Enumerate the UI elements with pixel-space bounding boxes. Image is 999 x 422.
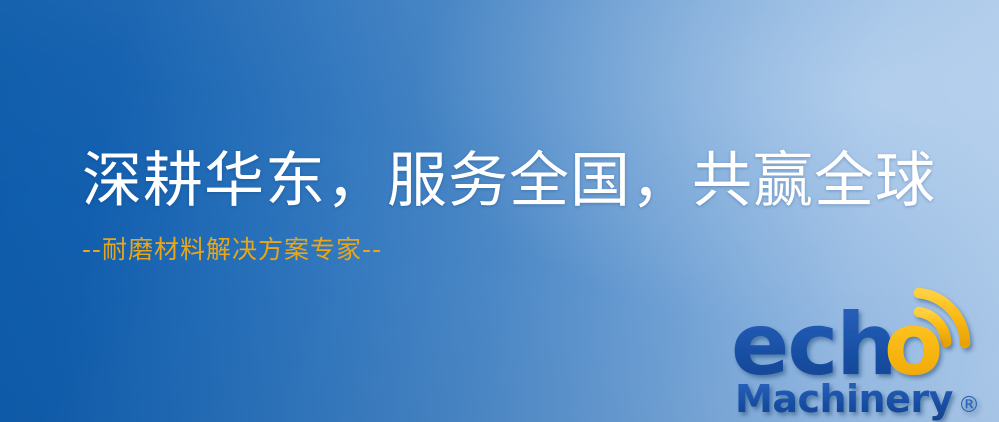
banner-subtitle: --耐磨材料解决方案专家-- [82, 236, 936, 264]
svg-text:Machinery: Machinery [735, 377, 954, 421]
promo-banner: 深耕华东，服务全国，共赢全球 --耐磨材料解决方案专家-- [0, 0, 999, 422]
logo-subwordmark-machinery: Machinery ® [735, 377, 980, 421]
company-logo[interactable]: ech o Machinery ® [725, 286, 993, 422]
banner-headline: 深耕华东，服务全国，共赢全球 [82, 150, 936, 214]
registered-trademark-symbol: ® [958, 393, 980, 418]
banner-text-block: 深耕华东，服务全国，共赢全球 --耐磨材料解决方案专家-- [82, 150, 936, 263]
